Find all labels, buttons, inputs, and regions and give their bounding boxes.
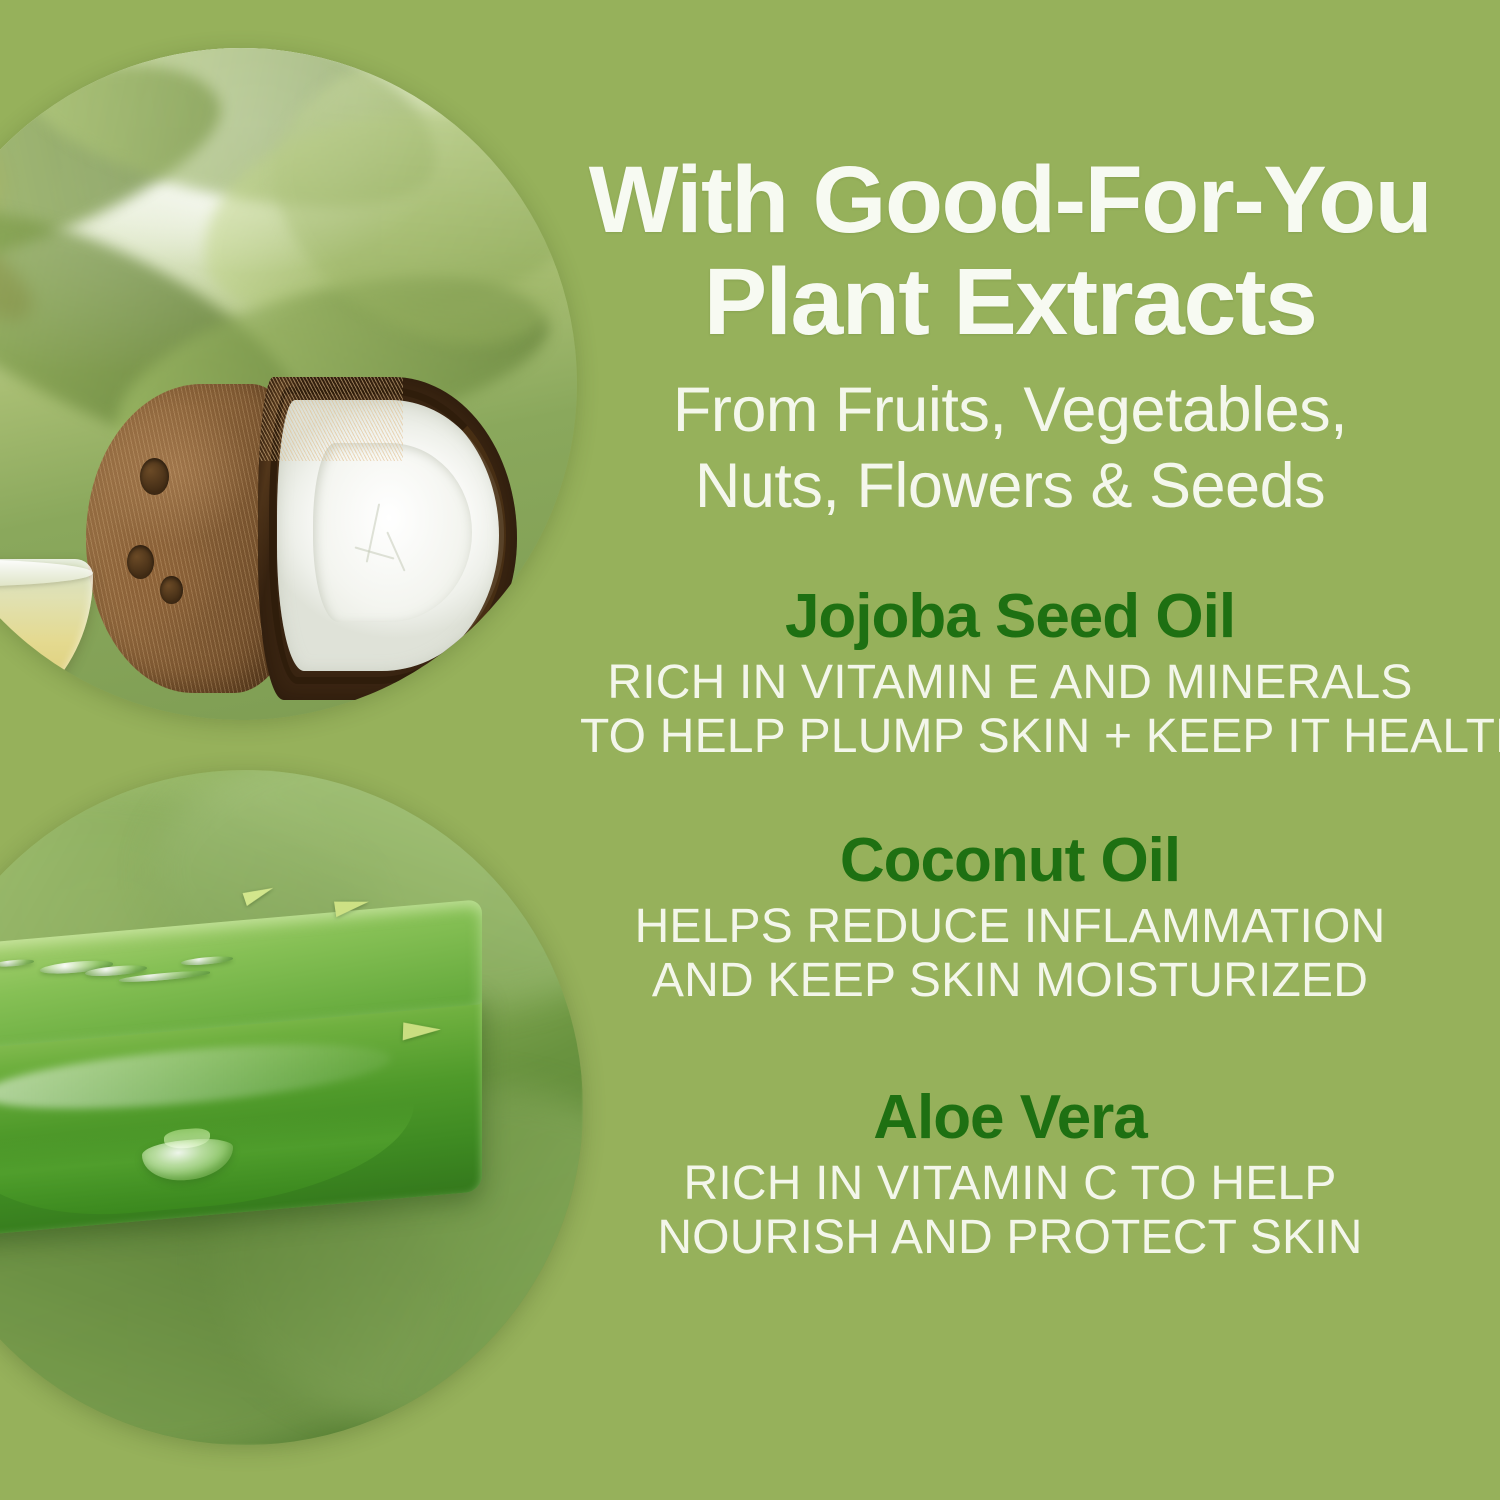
ingredient-description-line-2: AND KEEP SKIN MOISTURIZED — [580, 954, 1440, 1009]
page-subtitle: From Fruits, Vegetables, Nuts, Flowers &… — [580, 373, 1440, 524]
headline-line-1: With Good-For-You — [589, 147, 1431, 253]
water-droplet — [181, 955, 232, 967]
ingredient-block-aloe-vera: Aloe Vera RICH IN VITAMIN C TO HELP NOUR… — [580, 1085, 1440, 1266]
coconut-eye — [127, 545, 154, 579]
page-title: With Good-For-You Plant Extracts — [580, 150, 1440, 353]
coconut-photo — [0, 48, 577, 720]
oil-bowl — [0, 559, 93, 720]
ingredient-block-jojoba-seed-oil: Jojoba Seed Oil RICH IN VITAMIN E AND MI… — [580, 584, 1440, 765]
text-column: With Good-For-You Plant Extracts From Fr… — [580, 0, 1440, 1500]
ingredient-name: Coconut Oil — [580, 828, 1440, 894]
aloe-spike — [402, 1021, 441, 1041]
ingredient-name: Jojoba Seed Oil — [580, 584, 1440, 650]
ingredient-description: RICH IN VITAMIN E AND MINERALS TO HELP P… — [580, 656, 1440, 765]
ingredient-description-line-1: HELPS REDUCE INFLAMMATION — [580, 900, 1440, 955]
aloe-photo — [0, 770, 583, 1445]
ingredient-description-line-2: NOURISH AND PROTECT SKIN — [580, 1211, 1440, 1266]
subheadline-line-2: Nuts, Flowers & Seeds — [695, 451, 1325, 521]
ingredient-description: RICH IN VITAMIN C TO HELP NOURISH AND PR… — [580, 1157, 1440, 1266]
coconut-fruit — [86, 377, 516, 700]
ingredient-block-coconut-oil: Coconut Oil HELPS REDUCE INFLAMMATION AN… — [580, 828, 1440, 1009]
water-droplet — [0, 958, 34, 967]
ingredient-name: Aloe Vera — [580, 1085, 1440, 1151]
coconut-half — [258, 377, 516, 700]
ingredient-description-line-2: TO HELP PLUMP SKIN + KEEP IT HEALTHY — [580, 710, 1440, 765]
coconut-fiber-hair — [258, 377, 403, 461]
infographic-canvas: With Good-For-You Plant Extracts From Fr… — [0, 0, 1500, 1500]
leaf-highlight — [0, 1033, 391, 1121]
ingredient-description-line-1: RICH IN VITAMIN C TO HELP — [580, 1157, 1440, 1212]
coconut-eye — [160, 576, 182, 604]
ingredient-description: HELPS REDUCE INFLAMMATION AND KEEP SKIN … — [580, 900, 1440, 1009]
headline-line-2: Plant Extracts — [704, 249, 1317, 355]
ingredient-description-line-1: RICH IN VITAMIN E AND MINERALS — [580, 656, 1440, 711]
subheadline-line-1: From Fruits, Vegetables, — [673, 375, 1347, 445]
